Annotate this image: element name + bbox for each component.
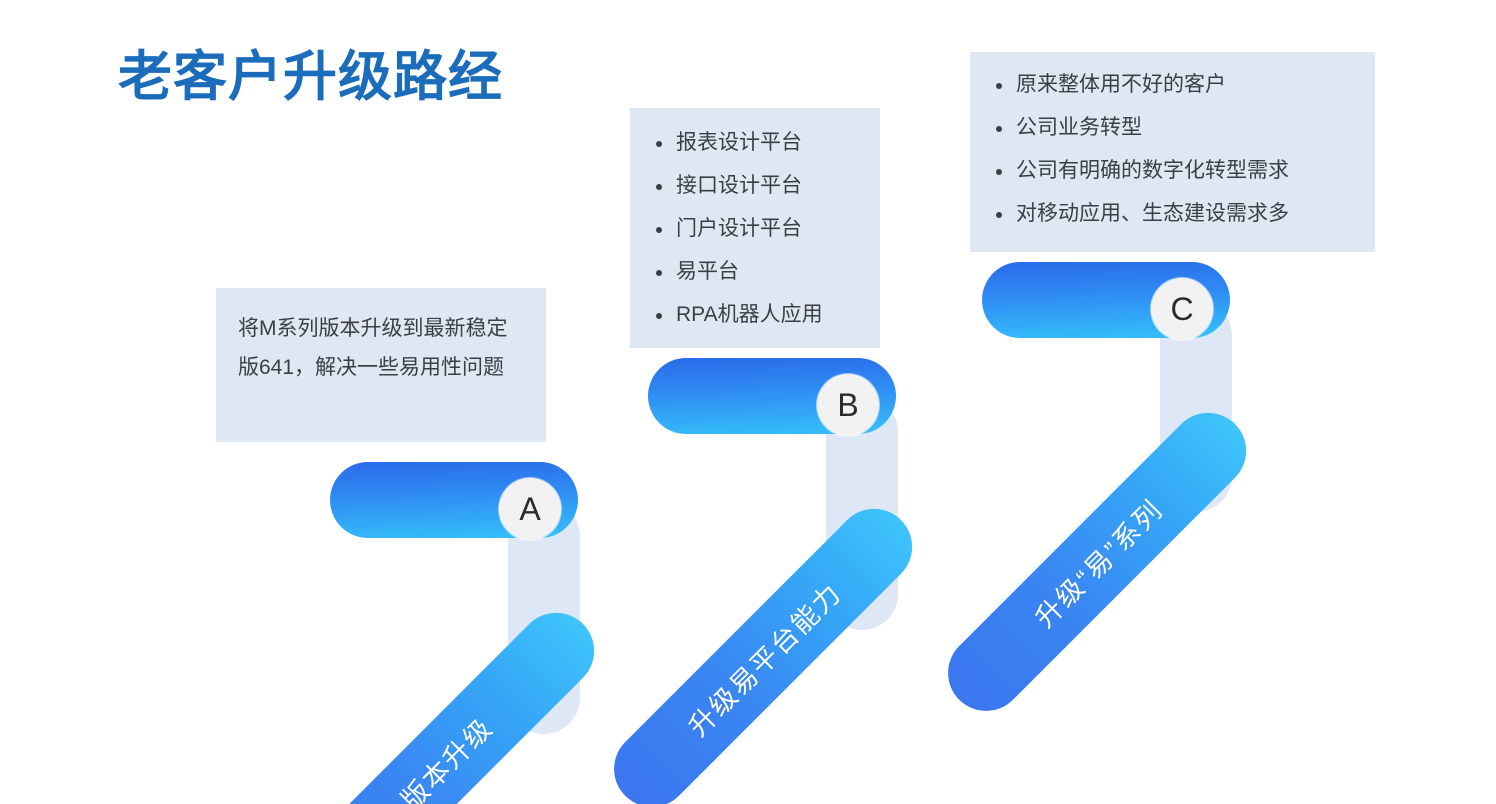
- info-box-b: 报表设计平台 接口设计平台 门户设计平台 易平台 RPA机器人应用: [630, 108, 880, 348]
- list-item: 公司有明确的数字化转型需求: [990, 160, 1357, 181]
- list-item: 易平台: [650, 261, 862, 282]
- step-badge-c: C: [1151, 278, 1213, 340]
- info-box-c-list: 原来整体用不好的客户 公司业务转型 公司有明确的数字化转型需求 对移动应用、生态…: [990, 74, 1357, 224]
- info-box-a: 将M系列版本升级到最新稳定版641，解决一些易用性问题: [216, 288, 546, 442]
- list-item: 对移动应用、生态建设需求多: [990, 203, 1357, 224]
- info-box-a-text: 将M系列版本升级到最新稳定版641，解决一些易用性问题: [238, 310, 526, 388]
- list-item: 门户设计平台: [650, 218, 862, 239]
- step-badge-b: B: [817, 374, 879, 436]
- list-item: RPA机器人应用: [650, 304, 862, 325]
- list-item: 公司业务转型: [990, 117, 1357, 138]
- info-box-b-list: 报表设计平台 接口设计平台 门户设计平台 易平台 RPA机器人应用: [650, 132, 862, 325]
- info-box-c: 原来整体用不好的客户 公司业务转型 公司有明确的数字化转型需求 对移动应用、生态…: [970, 52, 1375, 252]
- step-badge-a: A: [499, 478, 561, 540]
- list-item: 接口设计平台: [650, 175, 862, 196]
- list-item: 报表设计平台: [650, 132, 862, 153]
- list-item: 原来整体用不好的客户: [990, 74, 1357, 95]
- slide-canvas: 老客户升级路经 版本升级 A 升级易平台能力 B 升级“易”系列 C 将M系列版…: [0, 0, 1496, 804]
